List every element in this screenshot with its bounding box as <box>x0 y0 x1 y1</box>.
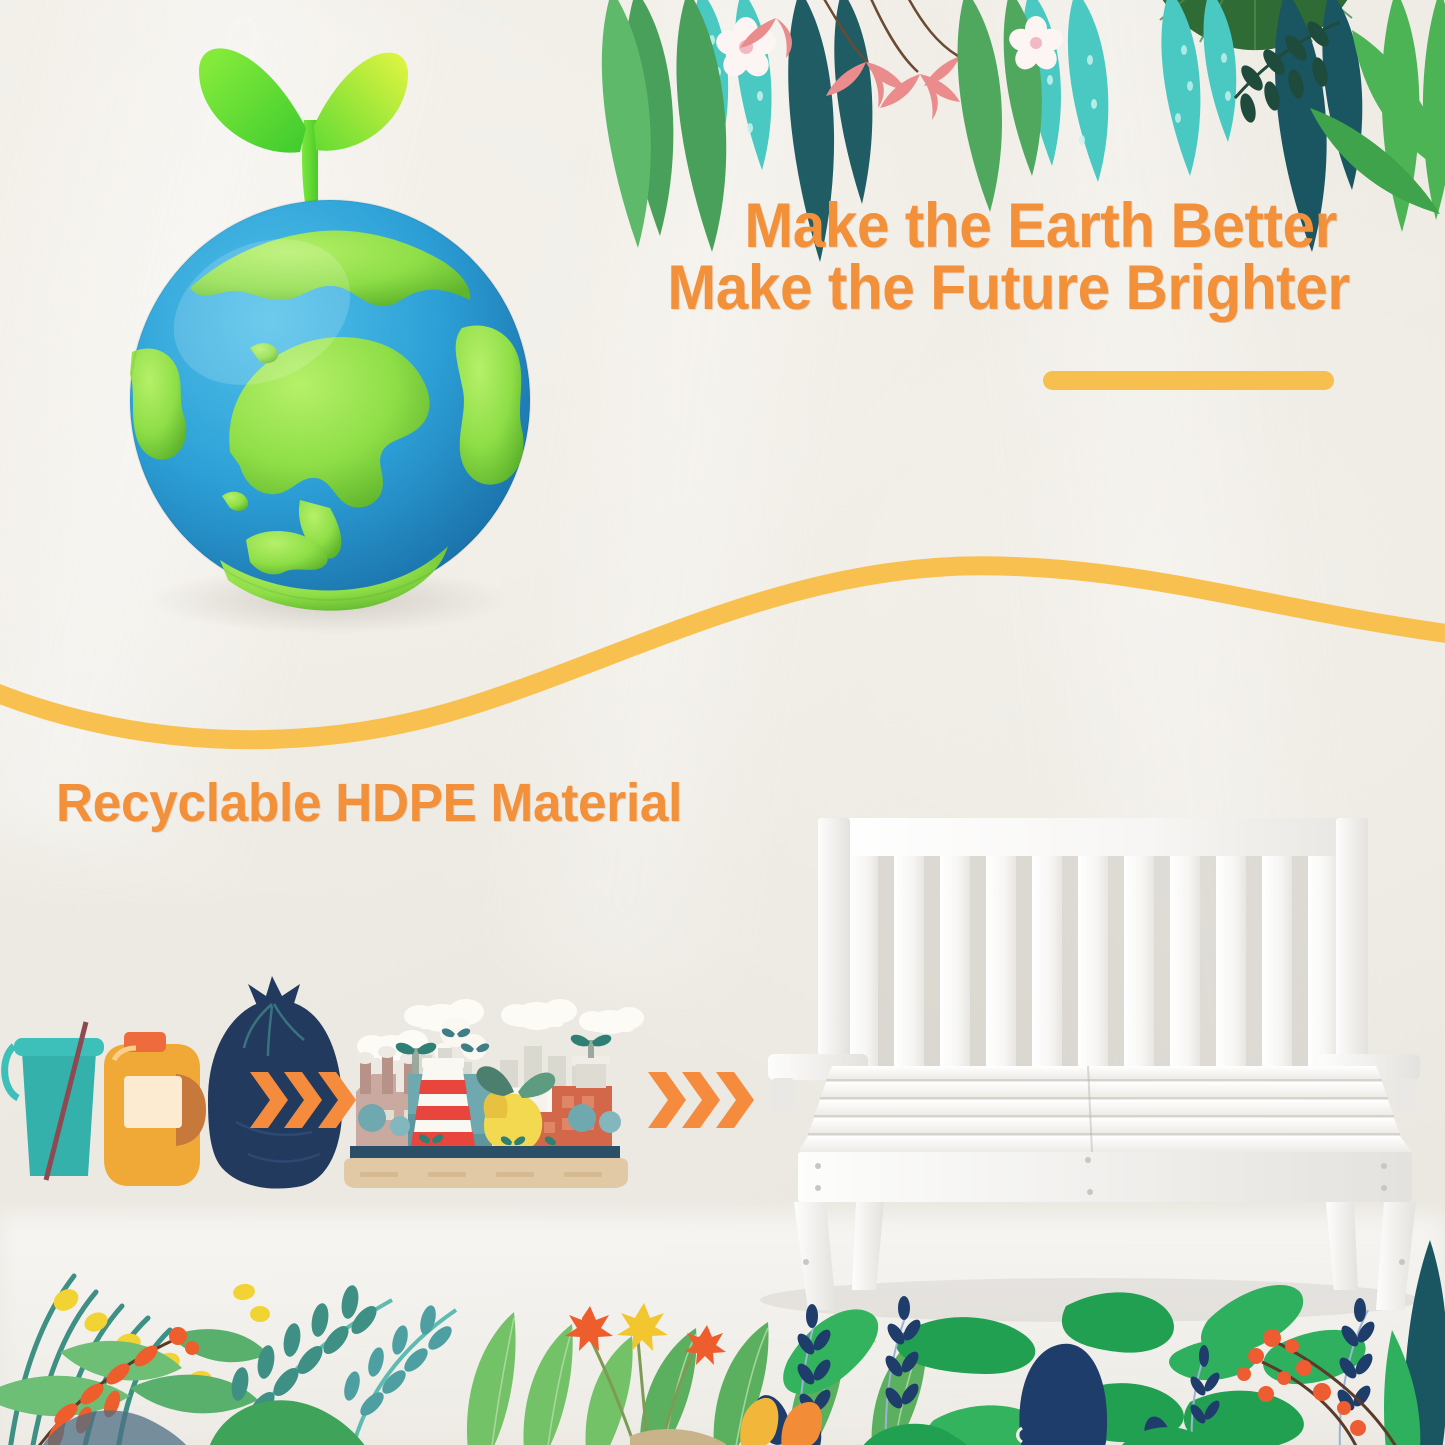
headline-line-1: Make the Earth Better <box>667 196 1337 258</box>
subheading-recyclable-hdpe: Recyclable HDPE Material <box>56 772 682 834</box>
eco-factory-icon <box>344 999 644 1188</box>
headline-line-2: Make the Future Brighter <box>667 258 1337 320</box>
product-infographic: Make the Earth Better Make the Future Br… <box>0 0 1445 1445</box>
chevron-arrows-icon <box>648 1072 754 1128</box>
headline-underline-bar <box>1043 371 1334 390</box>
studio-light-streak <box>948 0 1372 1132</box>
recyclable-waste-icon <box>5 976 343 1189</box>
headline-block: Make the Earth Better Make the Future Br… <box>617 196 1337 319</box>
chevron-arrows-icon <box>250 1072 356 1128</box>
studio-light-streak <box>485 0 896 993</box>
studio-light-streak <box>0 0 463 897</box>
studio-floor <box>0 1215 1445 1445</box>
